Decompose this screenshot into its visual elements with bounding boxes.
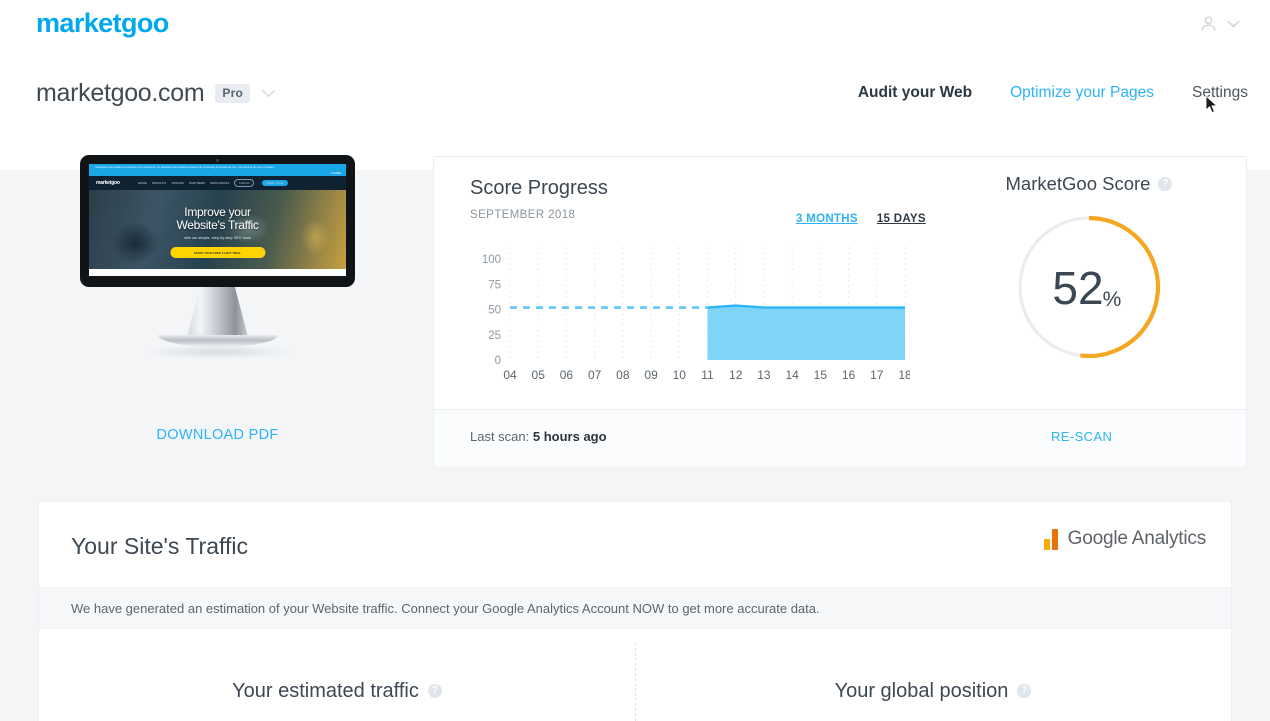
gauge-title-row: MarketGoo Score ? xyxy=(954,173,1224,195)
site-traffic-card: Your Site's Traffic Google Analytics We … xyxy=(38,501,1232,721)
global-position-title-row: Your global position ? xyxy=(835,648,1032,703)
range-toggle: 3 MONTHS 15 DAYS xyxy=(796,213,926,225)
score-progress-chart: 0255075100 04050607080910111213141516171… xyxy=(470,241,910,386)
site-selector[interactable]: marketgoo.com Pro xyxy=(36,79,276,108)
svg-text:06: 06 xyxy=(560,368,574,382)
site-preview-monitor: marketgoo uses cookies to enhance your e… xyxy=(80,155,355,353)
svg-text:12: 12 xyxy=(729,368,743,382)
ga-logo-analytics: Analytics xyxy=(1132,528,1206,549)
marketgoo-logo[interactable]: marketgoo xyxy=(36,8,169,39)
svg-text:10: 10 xyxy=(673,368,687,382)
svg-text:75: 75 xyxy=(488,279,501,291)
last-scan-label: Last scan: xyxy=(470,429,529,444)
chart-area-fill xyxy=(708,306,906,360)
svg-text:18: 18 xyxy=(898,368,910,382)
svg-text:0: 0 xyxy=(495,355,501,367)
monitor-stand-neck xyxy=(187,287,249,339)
score-card-subtitle: SEPTEMBER 2018 xyxy=(470,209,575,221)
traffic-columns: Your estimated traffic ? Your global pos… xyxy=(39,629,1231,721)
monitor-frame: marketgoo uses cookies to enhance your e… xyxy=(80,155,355,287)
preview-cookie-text: marketgoo uses cookies to enhance your e… xyxy=(95,166,320,170)
preview-hero-line1: Improve your xyxy=(89,206,346,219)
svg-text:17: 17 xyxy=(870,368,884,382)
preview-nav-partners: PARTNERS xyxy=(189,181,205,185)
preview-nav-pricing: PRICING xyxy=(172,181,185,185)
svg-text:05: 05 xyxy=(532,368,546,382)
preview-navbar: marketgoo HOME PRODUCT PRICING PARTNERS … xyxy=(89,176,346,190)
last-scan-value: 5 hours ago xyxy=(533,429,607,444)
rescan-button[interactable]: RE-SCAN xyxy=(1051,429,1112,444)
svg-text:04: 04 xyxy=(503,368,517,382)
chevron-down-icon xyxy=(1227,20,1240,28)
estimated-traffic-column: Your estimated traffic ? xyxy=(39,629,635,721)
estimated-traffic-title: Your estimated traffic xyxy=(232,680,419,703)
gauge-score-unit: % xyxy=(1103,288,1122,311)
nav-item-settings[interactable]: Settings xyxy=(1192,84,1248,102)
traffic-note: We have generated an estimation of your … xyxy=(39,587,1231,629)
global-position-title: Your global position xyxy=(835,680,1009,703)
score-card-title: Score Progress xyxy=(470,177,608,200)
monitor-camera-dot xyxy=(216,159,219,162)
question-mark-icon[interactable]: ? xyxy=(1158,177,1172,191)
question-mark-icon[interactable]: ? xyxy=(1017,684,1031,698)
svg-text:14: 14 xyxy=(785,368,799,382)
ga-bar-small xyxy=(1044,539,1050,550)
svg-text:16: 16 xyxy=(842,368,856,382)
preview-hero-subtext: with our simple, step-by-step SEO tools xyxy=(89,236,346,240)
gauge-svg: 52 % xyxy=(1014,212,1164,362)
score-progress-card: Score Progress SEPTEMBER 2018 3 MONTHS 1… xyxy=(433,156,1247,466)
plan-badge: Pro xyxy=(215,84,250,103)
question-mark-icon[interactable]: ? xyxy=(428,684,442,698)
website-preview: marketgoo uses cookies to enhance your e… xyxy=(89,164,346,276)
chart-y-axis-labels: 0255075100 xyxy=(482,254,501,367)
ga-logo-google: Google xyxy=(1068,528,1128,549)
preview-nav-home: HOME xyxy=(138,181,147,185)
preview-nav-links: HOME PRODUCT PRICING PARTNERS RESOURCES … xyxy=(138,179,288,187)
traffic-title: Your Site's Traffic xyxy=(71,533,248,560)
range-option-3-months[interactable]: 3 MONTHS xyxy=(796,213,858,225)
svg-text:15: 15 xyxy=(814,368,828,382)
mouse-cursor xyxy=(1205,95,1218,114)
preview-login-button: LOG IN xyxy=(234,179,254,187)
user-icon xyxy=(1199,14,1218,33)
site-name: marketgoo.com xyxy=(36,79,204,108)
preview-footer xyxy=(89,269,346,276)
global-position-column: Your global position ? xyxy=(635,629,1231,721)
svg-text:50: 50 xyxy=(488,305,501,317)
svg-text:07: 07 xyxy=(588,368,602,382)
preview-cookie-bar: marketgoo uses cookies to enhance your e… xyxy=(89,164,346,176)
gauge-title: MarketGoo Score xyxy=(1006,173,1151,195)
last-scan-status: Last scan: 5 hours ago xyxy=(470,429,607,444)
range-option-15-days[interactable]: 15 DAYS xyxy=(877,213,926,225)
svg-text:08: 08 xyxy=(616,368,630,382)
preview-cookie-button: I AGREE xyxy=(331,172,341,175)
app-page: marketgoo marketgoo.com Pro Audit your W… xyxy=(0,0,1270,721)
monitor-stand xyxy=(80,287,355,353)
preview-logo: marketgoo xyxy=(96,180,120,186)
google-analytics-logo: Google Analytics xyxy=(1044,528,1206,550)
preview-hero-line2: Website's Traffic xyxy=(89,219,346,232)
svg-text:100: 100 xyxy=(482,254,501,266)
preview-hero-heading: Improve your Website's Traffic xyxy=(89,206,346,231)
nav-item-audit[interactable]: Audit your Web xyxy=(858,84,972,102)
monitor-shadow xyxy=(143,345,293,359)
estimated-traffic-title-row: Your estimated traffic ? xyxy=(232,648,442,703)
ga-logo-text: Google Analytics xyxy=(1068,528,1206,550)
svg-text:13: 13 xyxy=(757,368,771,382)
main-nav: Audit your Web Optimize your Pages Setti… xyxy=(858,84,1248,102)
score-card-body: Score Progress SEPTEMBER 2018 3 MONTHS 1… xyxy=(434,157,1246,410)
google-analytics-icon xyxy=(1044,529,1058,550)
svg-text:25: 25 xyxy=(488,330,501,342)
chart-x-axis-labels: 040506070809101112131415161718 xyxy=(503,368,910,382)
score-card-footer: Last scan: 5 hours ago RE-SCAN xyxy=(434,410,1246,466)
user-menu[interactable] xyxy=(1199,14,1240,33)
ga-bar-large xyxy=(1052,529,1058,550)
column-divider xyxy=(635,643,636,721)
svg-text:11: 11 xyxy=(701,368,714,382)
chart-svg: 0255075100 04050607080910111213141516171… xyxy=(470,241,910,386)
preview-nav-resources: RESOURCES xyxy=(210,181,229,185)
gauge-score-value: 52 xyxy=(1052,262,1103,314)
preview-trial-button: FREE TRIAL xyxy=(262,180,287,186)
marketgoo-score-gauge: MarketGoo Score ? 52 % xyxy=(954,173,1224,403)
preview-hero: Improve your Website's Traffic with our … xyxy=(89,190,346,276)
preview-hero-cta: START YOUR FREE 14-DAY TRIAL xyxy=(170,247,265,258)
nav-item-optimize[interactable]: Optimize your Pages xyxy=(1010,84,1154,102)
svg-text:09: 09 xyxy=(644,368,658,382)
download-pdf-link[interactable]: DOWNLOAD PDF xyxy=(80,427,355,443)
traffic-card-header: Your Site's Traffic Google Analytics xyxy=(39,502,1231,587)
preview-nav-product: PRODUCT xyxy=(152,181,167,185)
chevron-down-icon[interactable] xyxy=(261,89,276,98)
